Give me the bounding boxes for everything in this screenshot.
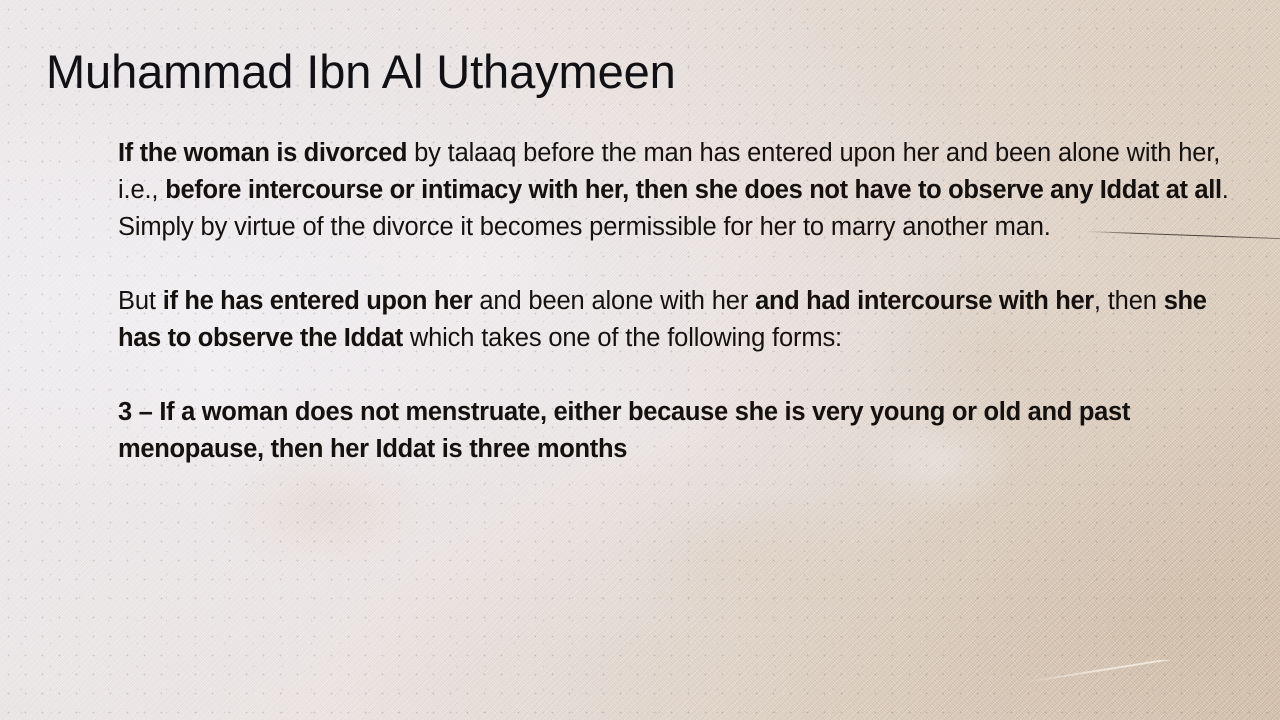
text-run-bold: and had intercourse with her <box>755 287 1094 315</box>
text-run-bold: if he has entered upon her <box>163 287 473 315</box>
text-run-bold: 3 – If a woman does not menstruate, eith… <box>118 398 1130 463</box>
body-text-block: If the woman is divorced by talaaq befor… <box>118 135 1250 468</box>
text-run-regular: and been alone with her <box>472 287 755 315</box>
text-run-regular: which takes one of the following forms: <box>403 324 842 352</box>
slide-canvas: Muhammad Ibn Al Uthaymeen If the woman i… <box>0 0 1280 720</box>
paragraph-2: But if he has entered upon her and been … <box>118 283 1250 357</box>
paragraph-1: If the woman is divorced by talaaq befor… <box>118 135 1250 246</box>
text-run-regular: , then <box>1094 287 1164 315</box>
page-title: Muhammad Ibn Al Uthaymeen <box>46 47 676 96</box>
text-run-bold: before intercourse or intimacy with her,… <box>165 176 1221 204</box>
text-run-bold: If the woman is divorced <box>118 139 407 167</box>
paragraph-3: 3 – If a woman does not menstruate, eith… <box>118 394 1250 468</box>
slide-content: Muhammad Ibn Al Uthaymeen If the woman i… <box>0 0 1280 720</box>
text-run-regular: But <box>118 287 163 315</box>
